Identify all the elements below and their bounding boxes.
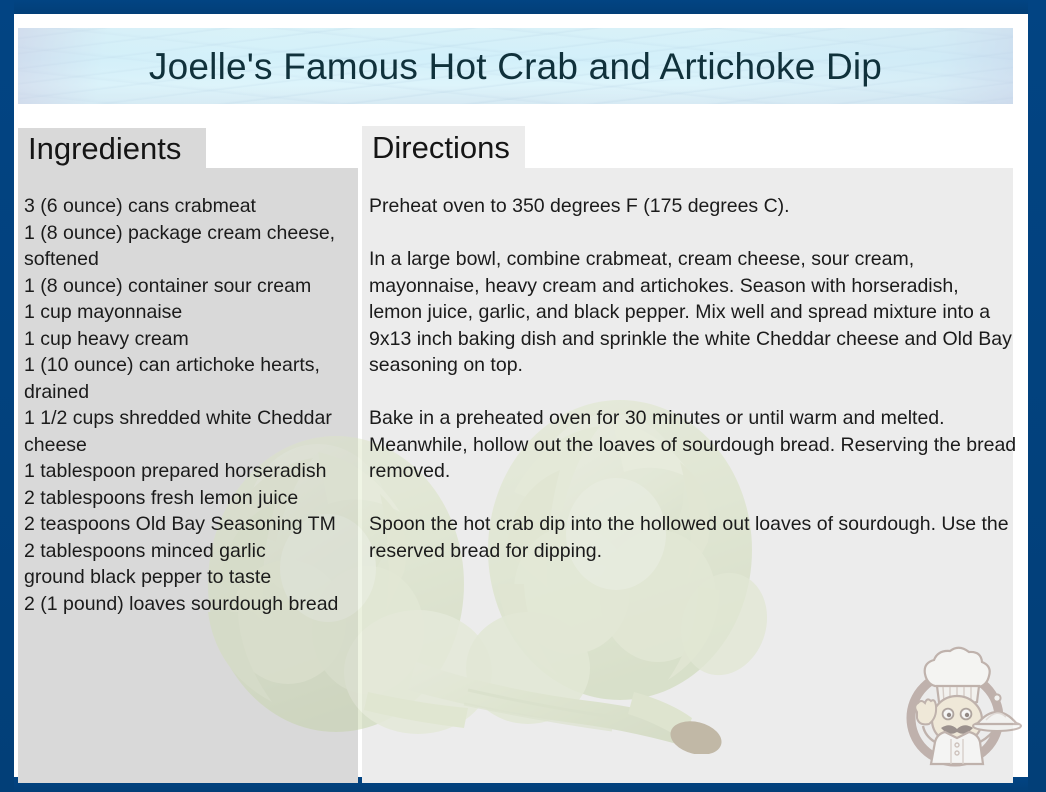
list-item: 2 teaspoons Old Bay Seasoning TM [24,511,350,538]
card-border-top [0,0,1046,14]
recipe-title: Joelle's Famous Hot Crab and Artichoke D… [149,48,882,85]
direction-step: Spoon the hot crab dip into the hollowed… [369,511,1017,564]
list-item: 1 cup heavy cream [24,326,350,353]
ingredients-heading-label: Ingredients [28,133,181,164]
list-item: 1 cup mayonnaise [24,299,350,326]
list-item: 2 tablespoons fresh lemon juice [24,485,350,512]
directions-body: Preheat oven to 350 degrees F (175 degre… [369,193,1017,564]
direction-step: Preheat oven to 350 degrees F (175 degre… [369,193,1017,220]
ingredients-heading-tab: Ingredients [18,128,206,169]
list-item: 1 1/2 cups shredded white Cheddar cheese [24,405,350,458]
list-item: ground black pepper to taste [24,564,350,591]
list-item: 1 (8 ounce) container sour cream [24,273,350,300]
list-item: 3 (6 ounce) cans crabmeat [24,193,350,220]
list-item: 2 tablespoons minced garlic [24,538,350,565]
list-item: 1 tablespoon prepared horseradish [24,458,350,485]
recipe-card: Joelle's Famous Hot Crab and Artichoke D… [0,0,1046,792]
card-border-left [0,0,14,792]
card-border-right [1028,0,1046,792]
list-item: 2 (1 pound) loaves sourdough bread [24,591,350,618]
direction-step: Bake in a preheated oven for 30 minutes … [369,405,1017,485]
title-banner: Joelle's Famous Hot Crab and Artichoke D… [18,28,1013,104]
ingredients-list: 3 (6 ounce) cans crabmeat 1 (8 ounce) pa… [24,193,350,617]
list-item: 1 (10 ounce) can artichoke hearts, drain… [24,352,350,405]
directions-heading-label: Directions [372,132,510,163]
directions-heading-tab: Directions [362,126,525,168]
direction-step: In a large bowl, combine crabmeat, cream… [369,246,1017,379]
list-item: 1 (8 ounce) package cream cheese, soften… [24,220,350,273]
